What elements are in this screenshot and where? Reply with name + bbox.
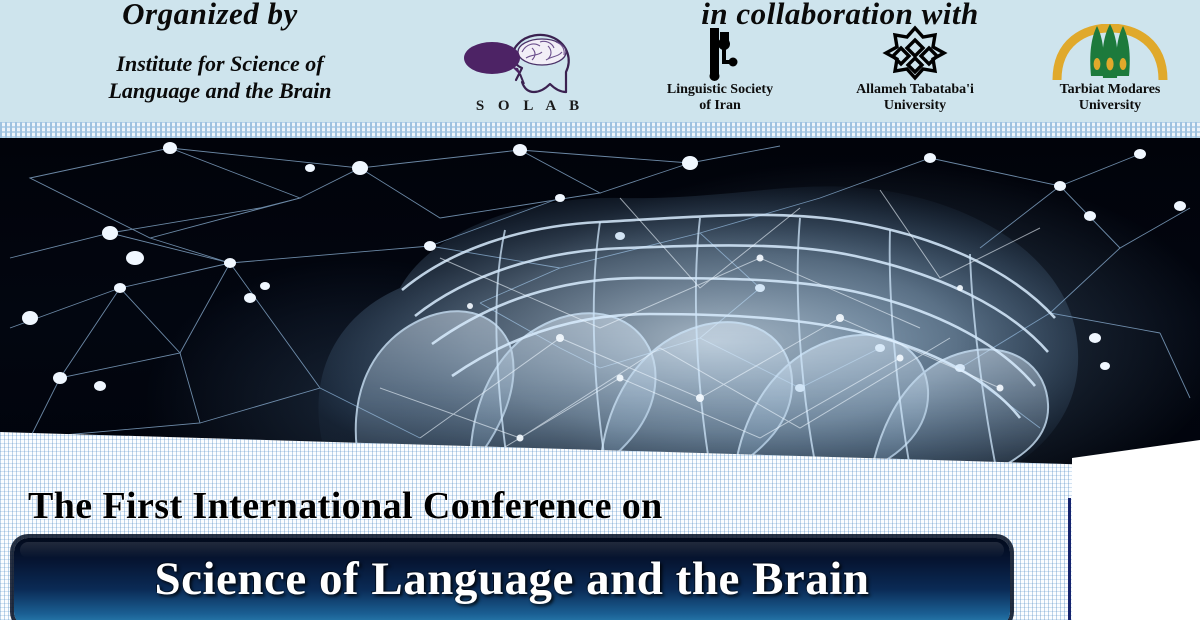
vertical-divider-line [1068, 498, 1071, 620]
partner-name-line1: Linguistic Society [630, 82, 810, 98]
partner-allameh-tabatabai-university: Allameh Tabataba'i University [825, 24, 1005, 122]
organizer-name-line2: Language and the Brain [10, 77, 430, 104]
head-brain-speech-bubble-icon [460, 22, 600, 102]
solab-logo: S O L A B [460, 22, 600, 118]
conference-poster: Organized by Institute for Science of La… [0, 0, 1200, 620]
partner-tarbiat-modares-university: Tarbiat Modares University [1020, 24, 1200, 122]
organized-by-label: Organized by [0, 0, 420, 32]
partner-linguistic-society-of-iran: Linguistic Society of Iran [630, 24, 810, 122]
organizer-name: Institute for Science of Language and th… [10, 50, 430, 104]
brain-illustration [0, 138, 1200, 468]
main-title-box: Science of Language and the Brain [14, 538, 1010, 620]
brain-banner-image [0, 138, 1200, 468]
partner-name-line2: University [825, 98, 1005, 114]
dotted-separator-strip [0, 122, 1200, 138]
conference-subtitle: The First International Conference on [28, 484, 663, 528]
page-title: Science of Language and the Brain [14, 552, 1010, 606]
partner-name: Tarbiat Modares University [1020, 82, 1200, 114]
partner-name-line1: Tarbiat Modares [1020, 82, 1200, 98]
linguistic-society-pen-icon [630, 24, 810, 82]
side-info-card: Imp Dea [1072, 440, 1200, 620]
partner-name-line2: University [1020, 98, 1200, 114]
islamic-star-rosette-icon [825, 24, 1005, 82]
partner-name-line1: Allameh Tabataba'i [825, 82, 1005, 98]
organizer-block: Organized by Institute for Science of La… [0, 0, 460, 122]
partner-name-line2: of Iran [630, 98, 810, 114]
cypress-trees-arch-icon [1020, 24, 1200, 82]
solab-acronym: S O L A B [460, 98, 600, 115]
partner-name: Allameh Tabataba'i University [825, 82, 1005, 114]
partner-name: Linguistic Society of Iran [630, 82, 810, 114]
organizer-name-line1: Institute for Science of [10, 50, 430, 77]
poster-header: Organized by Institute for Science of La… [0, 0, 1200, 122]
